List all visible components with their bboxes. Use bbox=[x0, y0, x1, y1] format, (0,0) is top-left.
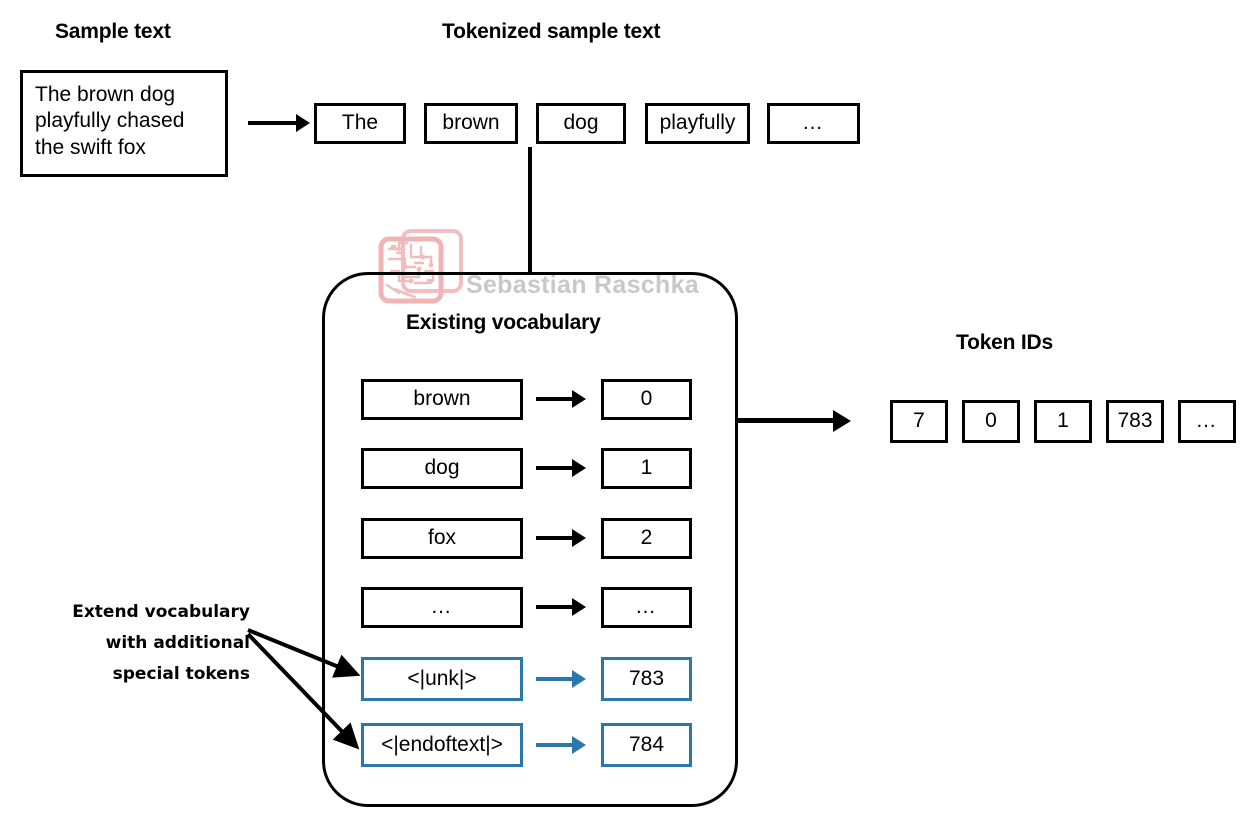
vocab-arrow-head-0 bbox=[572, 390, 586, 408]
heading-sample-text: Sample text bbox=[55, 20, 171, 44]
token-id-box-2: 1 bbox=[1034, 400, 1092, 443]
token-label: … bbox=[802, 110, 825, 136]
arrow-sample-to-tokens-line bbox=[248, 121, 298, 125]
token-id-box-0: 7 bbox=[890, 400, 948, 443]
vocab-arrow-head-endoftext bbox=[572, 736, 586, 754]
vocab-word-label: <|unk|> bbox=[407, 666, 476, 692]
vocab-arrow-head-3 bbox=[572, 598, 586, 616]
vocab-arrow-line-0 bbox=[536, 397, 574, 401]
token-box-3: playfully bbox=[645, 103, 750, 144]
token-id-box-4: … bbox=[1178, 400, 1236, 443]
token-id-label: 783 bbox=[1117, 408, 1152, 434]
token-label: The bbox=[342, 110, 378, 136]
vocab-id-label: 0 bbox=[641, 386, 653, 412]
vocab-word-box-3: … bbox=[361, 587, 523, 628]
token-id-label: 1 bbox=[1057, 408, 1069, 434]
vocab-word-label: <|endoftext|> bbox=[381, 732, 503, 758]
annotation-line-3: special tokens bbox=[55, 659, 250, 690]
sample-text-line-2: playfully chased bbox=[35, 108, 184, 134]
arrow-sample-to-tokens-head bbox=[296, 114, 310, 132]
heading-existing-vocabulary: Existing vocabulary bbox=[406, 311, 601, 335]
vocab-word-box-1: dog bbox=[361, 448, 523, 489]
token-label: playfully bbox=[660, 110, 736, 136]
vocab-word-label: … bbox=[431, 594, 454, 620]
vocab-id-box-2: 2 bbox=[601, 518, 692, 559]
token-box-2: dog bbox=[536, 103, 626, 144]
sample-text-box: The brown dog playfully chased the swift… bbox=[20, 70, 228, 177]
annotation-extend-vocabulary: Extend vocabulary with additional specia… bbox=[55, 597, 250, 690]
diagram-canvas: Sample text Tokenized sample text Token … bbox=[0, 0, 1255, 829]
token-box-0: The bbox=[314, 103, 406, 144]
token-id-label: 7 bbox=[913, 408, 925, 434]
token-label: dog bbox=[563, 110, 598, 136]
arrow-vocab-to-token-ids-head bbox=[833, 410, 851, 432]
vocab-arrow-head-unk bbox=[572, 670, 586, 688]
vocab-word-label: brown bbox=[413, 386, 470, 412]
arrow-vocab-to-token-ids-line bbox=[738, 418, 836, 423]
vocab-id-box-1: 1 bbox=[601, 448, 692, 489]
vocab-arrow-head-1 bbox=[572, 459, 586, 477]
vocab-id-label: 2 bbox=[641, 525, 653, 551]
vocab-id-label: 1 bbox=[641, 455, 653, 481]
token-id-box-1: 0 bbox=[962, 400, 1020, 443]
sample-text-line-1: The brown dog bbox=[35, 82, 175, 108]
vocab-word-box-0: brown bbox=[361, 379, 523, 420]
vocab-arrow-line-endoftext bbox=[536, 743, 574, 747]
vocab-arrow-line-unk bbox=[536, 677, 574, 681]
token-id-label: … bbox=[1196, 408, 1219, 434]
vocab-arrow-line-2 bbox=[536, 536, 574, 540]
sample-text-line-3: the swift fox bbox=[35, 135, 146, 161]
vocab-arrow-line-1 bbox=[536, 466, 574, 470]
vocab-id-label: 784 bbox=[629, 732, 664, 758]
annotation-arrows bbox=[246, 628, 376, 763]
annotation-line-1: Extend vocabulary bbox=[55, 597, 250, 628]
vocab-id-box-3: … bbox=[601, 587, 692, 628]
vocab-word-label: fox bbox=[428, 525, 456, 551]
vocab-word-box-unk: <|unk|> bbox=[361, 657, 523, 701]
vocab-arrow-line-3 bbox=[536, 605, 574, 609]
vocab-word-box-endoftext: <|endoftext|> bbox=[361, 723, 523, 767]
token-id-box-3: 783 bbox=[1106, 400, 1164, 443]
vocab-id-label: … bbox=[635, 594, 658, 620]
vocab-id-box-endoftext: 784 bbox=[601, 723, 692, 767]
vocab-id-box-unk: 783 bbox=[601, 657, 692, 701]
connector-tokens-to-vocab bbox=[528, 147, 532, 272]
vocab-word-label: dog bbox=[424, 455, 459, 481]
annotation-line-2: with additional bbox=[55, 628, 250, 659]
vocab-arrow-head-2 bbox=[572, 529, 586, 547]
token-id-label: 0 bbox=[985, 408, 997, 434]
vocab-id-box-0: 0 bbox=[601, 379, 692, 420]
token-box-4: … bbox=[767, 103, 860, 144]
vocab-word-box-2: fox bbox=[361, 518, 523, 559]
token-label: brown bbox=[442, 110, 499, 136]
vocab-id-label: 783 bbox=[629, 666, 664, 692]
token-box-1: brown bbox=[424, 103, 518, 144]
heading-token-ids: Token IDs bbox=[956, 331, 1053, 355]
heading-tokenized-sample-text: Tokenized sample text bbox=[442, 20, 660, 44]
